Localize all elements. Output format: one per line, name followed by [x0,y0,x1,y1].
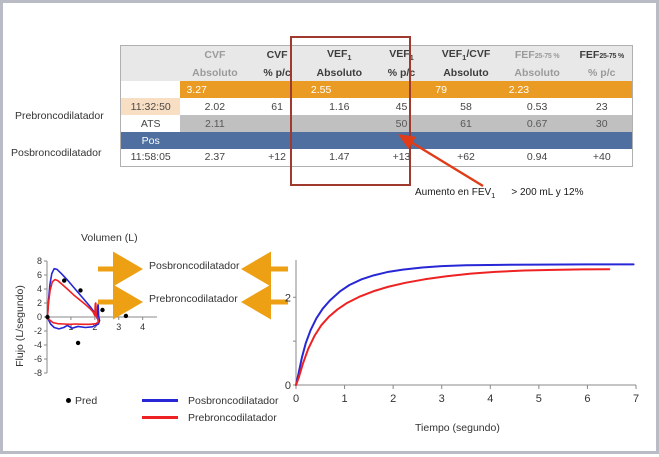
subheader-cvf-pct: % p/c [249,64,305,81]
subheader-vef1-pct: % p/c [374,64,430,81]
cell-pred-vef1-abs: 2.55 [305,81,374,98]
header-vef1-absoluto: VEF1 [305,46,374,65]
flow-volume-ylabel: Flujo (L/segundo) [14,281,26,371]
svg-text:0: 0 [285,380,291,392]
cell-pre-vef1cvf: 58 [429,98,502,115]
svg-text:7: 7 [633,393,639,405]
svg-text:-2: -2 [34,326,42,336]
volume-time-chart: 0201234567 [261,237,651,417]
svg-text:2: 2 [37,298,42,308]
arrow-label-pre: Prebroncodilatador [149,293,238,305]
svg-text:-8: -8 [34,368,42,378]
cell-pre-cvf-pct: 61 [249,98,305,115]
cell-posband-fef-pct [572,132,633,149]
cell-posband-cvf-abs [180,132,249,149]
cell-ats-fef-pct: 30 [572,115,633,132]
cell-posband-vef1-abs [305,132,374,149]
cell-pre-cvf-abs: 2.02 [180,98,249,115]
cell-pre-fef-pct: 23 [572,98,633,115]
header-vef1-pct: VEF1 [374,46,430,65]
header-vef1-cvf: VEF1/CVF [429,46,502,65]
flow-volume-title: Volumen (L) [81,232,138,244]
svg-text:2: 2 [285,292,291,304]
cell-ats-vef1-abs [305,115,374,132]
cell-pos-fef-abs: 0.94 [503,149,572,166]
svg-text:-4: -4 [34,340,42,350]
svg-text:8: 8 [37,256,42,266]
cell-posband-cvf-pct [249,132,305,149]
table-header-row-unit: Absoluto % p/c Absoluto % p/c Absoluto A… [121,64,633,81]
cell-pos-cvf-abs: 2.37 [180,149,249,166]
table-header-row-parameter: CVF CVF VEF1 VEF1 VEF1/CVF FEF25-75 % [121,46,633,65]
svg-text:2: 2 [390,393,396,405]
svg-text:4: 4 [37,284,42,294]
pred-dot-icon [66,398,71,403]
row-label-pos-time: 11:58:05 [121,149,181,166]
spirometry-results-table: CVF CVF VEF1 VEF1 VEF1/CVF FEF25-75 % [120,45,633,167]
legend-label-pred: Pred [75,395,97,407]
legend-item-pred: Pred [66,395,142,407]
cell-pred-cvf-abs: 3.27 [180,81,249,98]
cell-ats-vef1cvf: 61 [429,115,502,132]
row-label-ats: ATS [121,115,181,132]
row-label-pos: Pos [121,132,181,149]
charts-container: Volumen (L) Flujo (L/segundo) -8-6-4-202… [3,225,659,457]
svg-text:4: 4 [487,393,493,405]
arrow-label-post: Posbroncodilatador [149,260,239,272]
subheader-vef1-cvf-absoluto: Absoluto [429,64,502,81]
svg-text:6: 6 [584,393,590,405]
subheader-corner-cell [121,64,181,81]
legend-label-post: Posbroncodilatador [188,395,278,407]
annotation-arrow-icon [383,131,503,191]
cell-pred-vef1cvf: 79 [429,81,502,98]
cell-pos-fef-pct: +40 [572,149,633,166]
legend-line-pre-icon [142,416,178,419]
svg-text:1: 1 [342,393,348,405]
cell-ats-fef-abs: 0.67 [503,115,572,132]
table-row-ats: ATS 2.11 50 61 0.67 30 [121,115,633,132]
cell-pre-vef1-abs: 1.16 [305,98,374,115]
table-row-prebroncodilatador: 11:32:50 2.02 61 1.16 45 58 0.53 23 [121,98,633,115]
subheader-fef2575-absoluto: Absoluto [503,64,572,81]
cell-ats-vef1-pct: 50 [374,115,430,132]
header-cvf-absoluto: CVF [180,46,249,65]
svg-text:0: 0 [37,312,42,322]
svg-text:-6: -6 [34,354,42,364]
legend-label-pre: Prebroncodilatador [188,412,277,424]
header-corner-cell [121,46,181,65]
cell-posband-fef-abs [503,132,572,149]
annotation-text: Aumento en FEV1> 200 mL y 12% [415,187,584,200]
row-side-label-post: Posbroncodilatador [11,147,101,159]
subheader-cvf-absoluto: Absoluto [180,64,249,81]
legend-line-post-icon [142,399,178,402]
cell-ats-cvf-abs: 2.11 [180,115,249,132]
table-row-pred: 3.27 2.55 79 2.23 [121,81,633,98]
header-cvf-pct: CVF [249,46,305,65]
cell-ats-cvf-pct [249,115,305,132]
cell-pred-fef-abs: 2.23 [503,81,572,98]
row-label-pred [121,81,181,98]
header-fef2575-absoluto: FEF25-75 % [503,46,572,65]
cell-pos-cvf-pct: +12 [249,149,305,166]
page-root: Prebroncodilatador Posbroncodilatador CV… [0,0,659,454]
cell-pre-vef1-pct: 45 [374,98,430,115]
header-fef2575-pct: FEF25-75 % [572,46,633,65]
table-row-posbroncodilatador: 11:58:05 2.37 +12 1.47 +13 +62 0.94 +40 [121,149,633,166]
chart-legend: Pred Posbroncodilatador Prebroncodilatad… [66,392,278,426]
table-row-pos-band: Pos [121,132,633,149]
legend-row-1: Pred Posbroncodilatador [66,392,278,409]
legend-row-2: Prebroncodilatador [66,409,278,426]
cell-pred-fef-pct [572,81,633,98]
cell-pred-cvf-pct [249,81,305,98]
subheader-vef1-absoluto: Absoluto [305,64,374,81]
svg-text:5: 5 [536,393,542,405]
cell-pre-fef-abs: 0.53 [503,98,572,115]
svg-text:0: 0 [293,393,299,405]
svg-text:3: 3 [439,393,445,405]
row-label-pre-time: 11:32:50 [121,98,181,115]
volume-time-xlabel: Tiempo (segundo) [415,422,500,434]
row-side-label-pre: Prebroncodilatador [15,110,104,122]
subheader-fef2575-pct: % p/c [572,64,633,81]
cell-pred-vef1-pct [374,81,430,98]
svg-text:6: 6 [37,270,42,280]
cell-pos-vef1-abs: 1.47 [305,149,374,166]
